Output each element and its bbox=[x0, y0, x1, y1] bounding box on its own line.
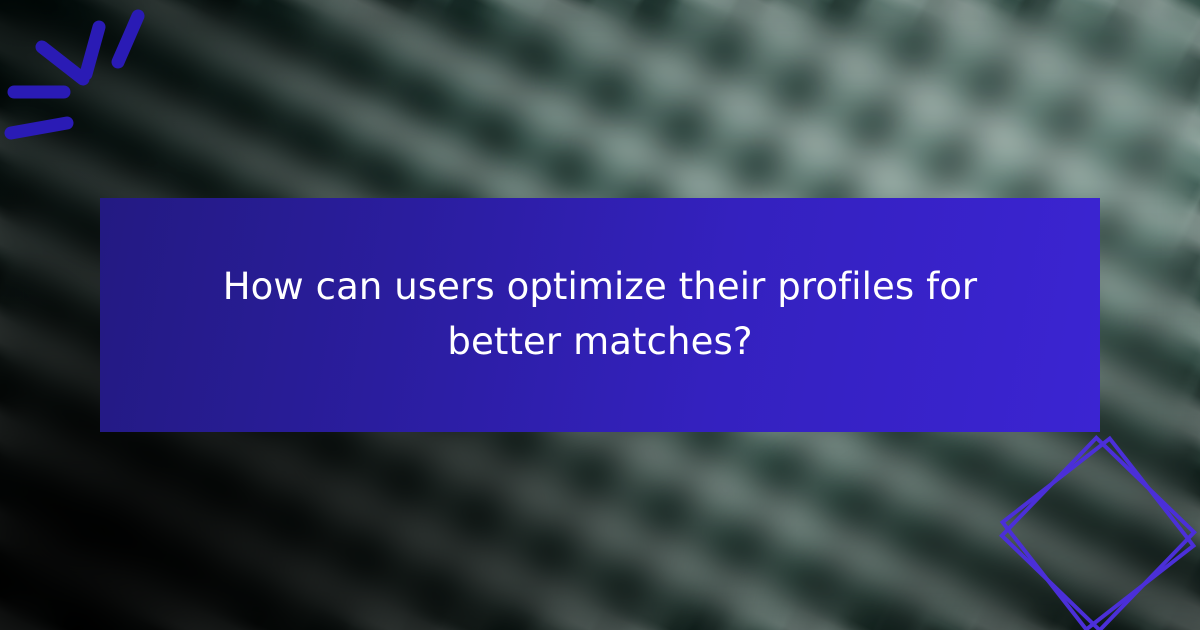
sparkle-ray-5 bbox=[11, 123, 67, 133]
rotated-squares-icon bbox=[980, 424, 1200, 630]
rotated-square-1 bbox=[1002, 438, 1194, 630]
sparkle-burst-icon bbox=[0, 0, 190, 160]
sparkle-ray-1 bbox=[118, 16, 138, 62]
headline-banner: How can users optimize their profiles fo… bbox=[100, 198, 1100, 432]
question-card: How can users optimize their profiles fo… bbox=[0, 0, 1200, 630]
sparkle-ray-3 bbox=[42, 47, 83, 79]
page-title: How can users optimize their profiles fo… bbox=[100, 260, 1100, 370]
sparkle-ray-2 bbox=[86, 27, 99, 74]
rotated-square-2 bbox=[1003, 439, 1194, 630]
